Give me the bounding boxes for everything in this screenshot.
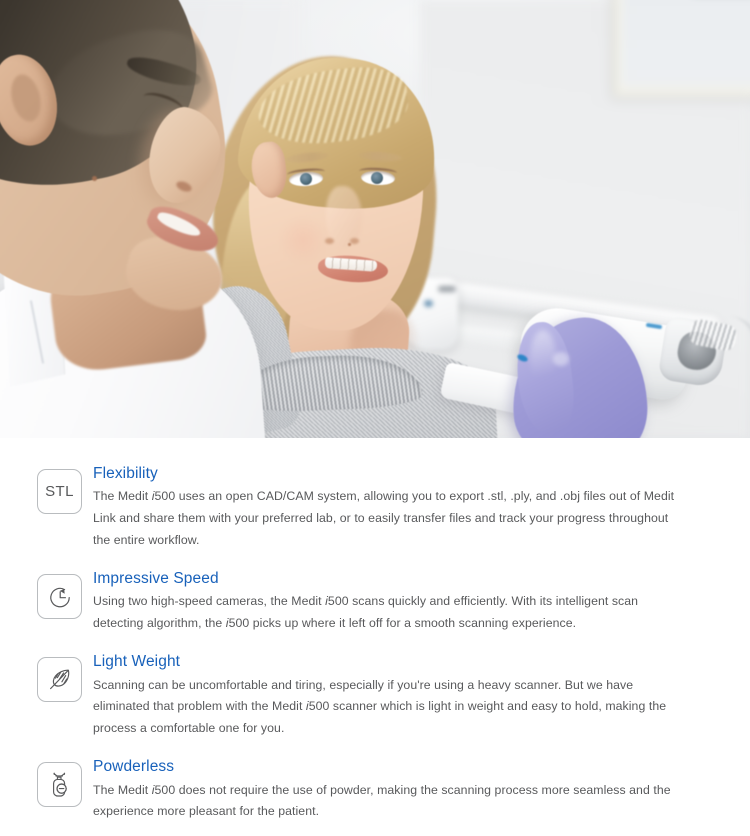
no-powder-spray-icon — [37, 762, 82, 807]
feature-description: Scanning can be uncomfortable and tiring… — [93, 675, 688, 741]
feature-title: Flexibility — [93, 464, 688, 483]
feature-text-block: Powderless The Medit i500 does not requi… — [93, 757, 688, 823]
feather-leaf-icon — [37, 657, 82, 702]
feature-item-powderless: Powderless The Medit i500 does not requi… — [0, 757, 750, 823]
patient-cheek-blush — [276, 218, 330, 262]
feature-list: STL Flexibility The Medit i500 uses an o… — [0, 438, 750, 823]
feature-description: Using two high-speed cameras, the Medit … — [93, 591, 688, 635]
dentist-mole — [92, 176, 97, 181]
clock-rewind-icon — [37, 574, 82, 619]
feature-description: The Medit i500 does not require the use … — [93, 780, 688, 824]
feature-title: Light Weight — [93, 652, 688, 671]
feature-text-block: Light Weight Scanning can be uncomfortab… — [93, 652, 688, 740]
patient-freckle — [348, 243, 351, 246]
feature-description: The Medit i500 uses an open CAD/CAM syst… — [93, 486, 688, 552]
hero-subjects-layer — [0, 0, 750, 438]
product-feature-page: STL Flexibility The Medit i500 uses an o… — [0, 0, 750, 836]
stl-file-icon: STL — [37, 469, 82, 514]
feature-title: Powderless — [93, 757, 688, 776]
feature-item-light-weight: Light Weight Scanning can be uncomfortab… — [0, 652, 750, 740]
feature-title: Impressive Speed — [93, 569, 688, 588]
patient-nostril-left — [325, 238, 334, 244]
feature-text-block: Flexibility The Medit i500 uses an open … — [93, 464, 688, 552]
feature-text-block: Impressive Speed Using two high-speed ca… — [93, 569, 688, 635]
hero-photo-banner — [0, 0, 750, 438]
patient-nostril-right — [350, 238, 359, 244]
glove-knuckle-highlight — [553, 352, 569, 366]
stl-icon-label: STL — [45, 483, 74, 500]
feature-item-impressive-speed: Impressive Speed Using two high-speed ca… — [0, 569, 750, 635]
feature-item-flexibility: STL Flexibility The Medit i500 uses an o… — [0, 464, 750, 552]
